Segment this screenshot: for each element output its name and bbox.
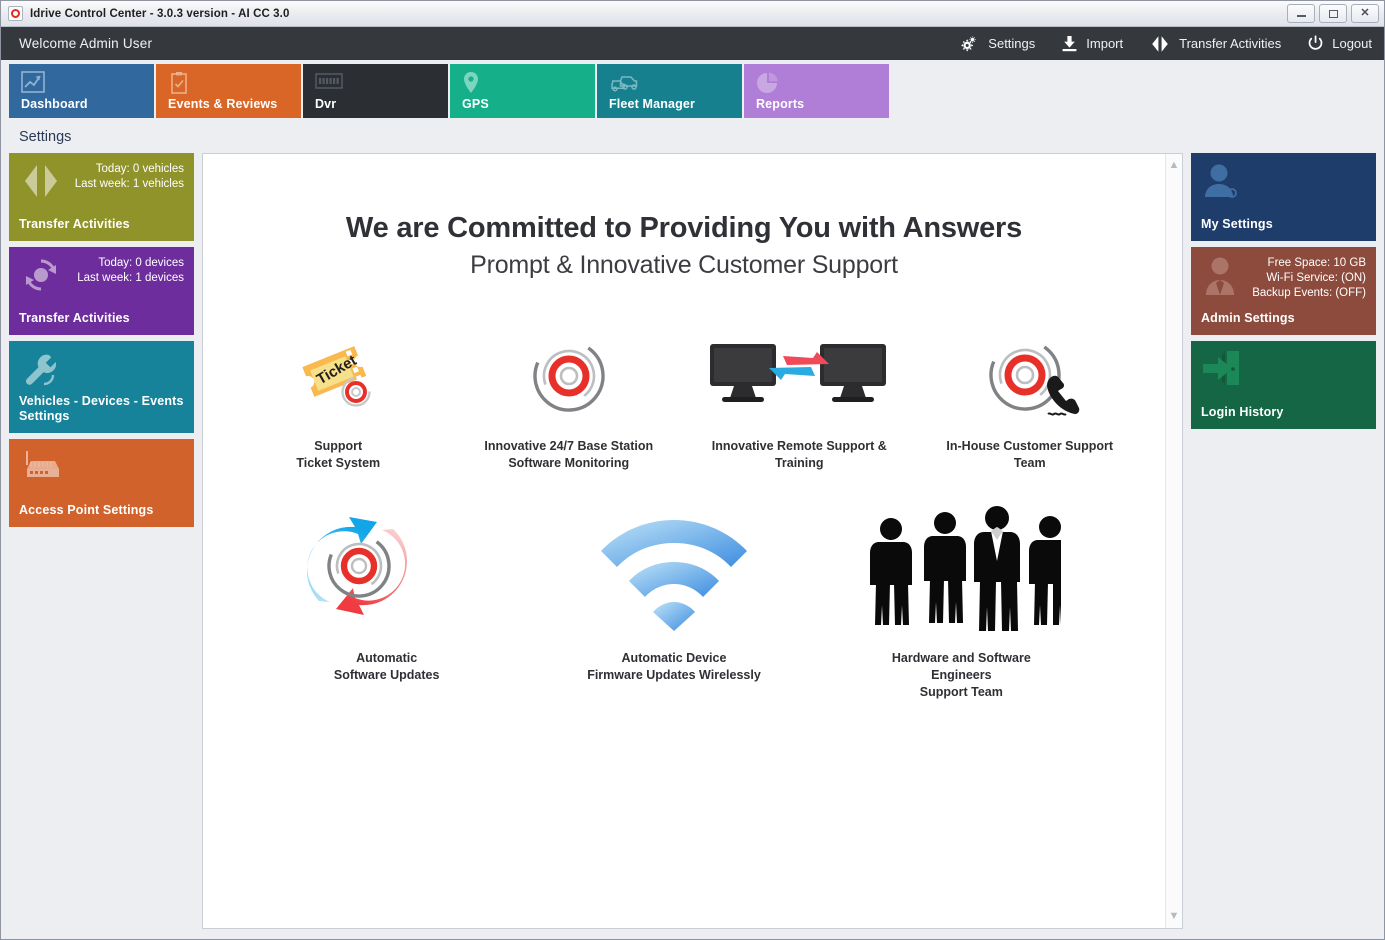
feature-support-ticket-system: Ticket Support [223,326,454,472]
app-target-circle-icon [8,6,23,21]
pie-chart-icon [756,71,780,100]
content-vertical-scrollbar[interactable]: ▲ ▼ [1165,154,1182,928]
power-icon [1307,35,1324,52]
tab-fleet-manager[interactable]: Fleet Manager [597,64,742,118]
device-sync-icon [19,255,63,300]
tile-stat-line: Today: 0 vehicles [63,162,184,177]
feature-engineers-support-team: Hardware and Software Engineers Support … [818,498,1105,701]
tab-fleet-manager-label: Fleet Manager [609,97,695,111]
tab-dvr[interactable]: Dvr [303,64,448,118]
app-header-menu: Settings Import [960,35,1372,53]
tab-events-reviews[interactable]: Events & Reviews [156,64,301,118]
feature-label: Automatic Device Firmware Updates Wirele… [587,650,761,684]
feature-label: Support Ticket System [296,438,380,472]
window-controls: ✕ [1287,4,1379,23]
breadcrumb: Settings [19,129,71,145]
feature-label: Automatic Software Updates [334,650,440,684]
transfer-arrows-icon [1149,35,1171,53]
header-import-button[interactable]: Import [1061,35,1123,52]
gears-icon [960,35,980,52]
tab-gps-label: GPS [462,97,489,111]
header-transfer-activities-label: Transfer Activities [1179,36,1281,51]
feature-label: Hardware and Software Engineers Support … [861,650,1061,701]
engineers-team-icon [861,498,1061,638]
admin-user-icon [1201,255,1241,302]
page-heading: We are Committed to Providing You with A… [223,212,1145,245]
user-icon [1201,161,1241,206]
tab-reports-label: Reports [756,97,804,111]
application-window: Idrive Control Center - 3.0.3 version - … [0,0,1385,940]
header-logout-button[interactable]: Logout [1307,35,1372,52]
support-phone-icon [980,326,1080,426]
auto-update-icon [297,498,477,638]
page-body: Today: 0 vehicles Last week: 1 vehicles … [1,153,1384,939]
dvr-icon [315,71,343,96]
feature-firmware-updates-wireless: Automatic Device Firmware Updates Wirele… [530,498,817,701]
tile-stat-line: Backup Events: (OFF) [1241,286,1366,301]
download-icon [1061,35,1078,52]
tile-stats: Today: 0 devices Last week: 1 devices [63,255,184,286]
chart-line-icon [21,71,45,98]
app-header-bar: Welcome Admin User Settings [1,27,1384,60]
tile-label: Transfer Activities [19,311,184,326]
feature-label: Innovative Remote Support & Training [712,438,887,472]
vehicles-icon [609,71,639,98]
wifi-icon [594,498,754,638]
tile-label: Vehicles - Devices - Events Settings [19,394,184,424]
tab-events-reviews-label: Events & Reviews [168,97,277,111]
tile-stat-line: Last week: 1 vehicles [63,177,184,192]
main-content-column: We are Committed to Providing You with A… [202,153,1183,929]
close-button[interactable]: ✕ [1351,4,1379,23]
tile-stats: Today: 0 vehicles Last week: 1 vehicles [63,161,184,192]
breadcrumb-bar: Settings [1,120,1384,153]
scroll-up-arrow[interactable]: ▲ [1169,160,1180,171]
scroll-down-arrow[interactable]: ▼ [1169,911,1180,922]
left-tile-column: Today: 0 vehicles Last week: 1 vehicles … [9,153,194,929]
base-station-icon [524,326,614,426]
feature-base-station-monitoring: Innovative 24/7 Base Station Software Mo… [454,326,685,472]
remote-support-icon [704,326,894,426]
tile-my-settings[interactable]: My Settings [1191,153,1376,241]
tab-dvr-label: Dvr [315,97,336,111]
tile-stat-line: Wi-Fi Service: (ON) [1241,271,1366,286]
tile-label: Access Point Settings [19,503,184,518]
right-tile-column: My Settings Free Space: 10 GB Wi-Fi Serv… [1191,153,1376,929]
tile-login-history[interactable]: Login History [1191,341,1376,429]
tile-access-point-settings[interactable]: Access Point Settings [9,439,194,527]
minimize-button[interactable] [1287,4,1315,23]
page-subheading: Prompt & Innovative Customer Support [223,251,1145,280]
tile-stat-line: Free Space: 10 GB [1241,256,1366,271]
maximize-button[interactable] [1319,4,1347,23]
header-import-label: Import [1086,36,1123,51]
login-door-icon [1201,349,1243,392]
tab-dashboard[interactable]: Dashboard [9,64,154,118]
clipboard-check-icon [168,71,190,100]
router-icon [19,447,67,492]
window-title: Idrive Control Center - 3.0.3 version - … [30,8,289,20]
feature-automatic-software-updates: Automatic Software Updates [243,498,530,701]
tab-gps[interactable]: GPS [450,64,595,118]
tile-admin-settings[interactable]: Free Space: 10 GB Wi-Fi Service: (ON) Ba… [1191,247,1376,335]
feature-label: In-House Customer Support Team [946,438,1113,472]
feature-row-1: Ticket Support [223,326,1145,472]
main-navigation-tabs: Dashboard Events & Reviews [1,60,1384,120]
header-settings-button[interactable]: Settings [960,35,1035,52]
tile-stat-line: Today: 0 devices [63,256,184,271]
map-pin-icon [462,71,480,100]
tile-transfer-activities-vehicles[interactable]: Today: 0 vehicles Last week: 1 vehicles … [9,153,194,241]
feature-label: Innovative 24/7 Base Station Software Mo… [484,438,653,472]
tile-transfer-activities-devices[interactable]: Today: 0 devices Last week: 1 devices Tr… [9,247,194,335]
content-scroll-area: We are Committed to Providing You with A… [203,154,1165,928]
feature-row-2: Automatic Software Updates [223,498,1145,701]
header-settings-label: Settings [988,36,1035,51]
title-bar: Idrive Control Center - 3.0.3 version - … [1,1,1384,27]
wrench-icon [19,349,63,394]
tile-label: My Settings [1201,217,1366,232]
feature-in-house-support-team: In-House Customer Support Team [915,326,1146,472]
tile-label: Admin Settings [1201,311,1366,326]
tile-label: Transfer Activities [19,217,184,232]
support-ticket-icon: Ticket [290,326,386,426]
tile-vehicles-devices-events-settings[interactable]: Vehicles - Devices - Events Settings [9,341,194,433]
welcome-message: Welcome Admin User [19,36,152,51]
header-logout-label: Logout [1332,36,1372,51]
feature-remote-support-training: Innovative Remote Support & Training [684,326,915,472]
tile-label: Login History [1201,405,1366,420]
content-panel: We are Committed to Providing You with A… [202,153,1183,929]
tile-stats: Free Space: 10 GB Wi-Fi Service: (ON) Ba… [1241,255,1366,301]
transfer-arrows-icon [19,161,63,206]
tab-dashboard-label: Dashboard [21,97,88,111]
tile-stat-line: Last week: 1 devices [63,271,184,286]
header-transfer-activities-button[interactable]: Transfer Activities [1149,35,1281,53]
tab-reports[interactable]: Reports [744,64,889,118]
